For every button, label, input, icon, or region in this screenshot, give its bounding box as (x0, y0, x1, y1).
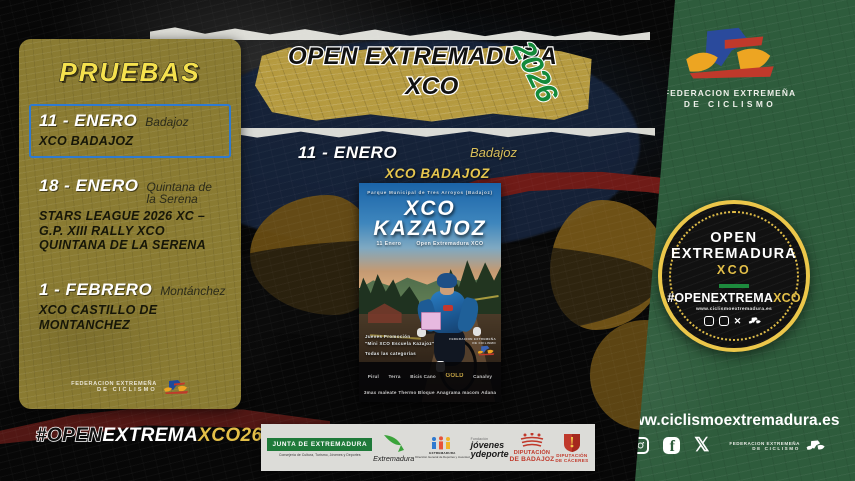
facebook-icon[interactable] (719, 316, 729, 326)
event-date: 1 - FEBRERO (39, 280, 152, 300)
instagram-icon[interactable] (704, 316, 714, 326)
caceres-shield-icon (562, 433, 582, 453)
federation-small-line-1: FEDERACION EXTREMEÑA (729, 441, 800, 446)
flyer-title-2: KAZAJOZ (359, 219, 501, 239)
badge-line-3: XCO (717, 263, 751, 277)
featured-event-name: XCO BADAJOZ (385, 166, 490, 181)
badajoz-crown-icon (517, 433, 547, 450)
facebook-icon[interactable]: f (663, 437, 680, 454)
campaign-hashtag: #OPENEXTREMAXCO26 (36, 425, 262, 447)
sponsor-label-2: DE CÁCERES (555, 458, 588, 463)
sponsor-label: JUNTA DE EXTREMADURA (267, 438, 372, 451)
event-name: STARS LEAGUE 2026 XC – G.P. XIII RALLY X… (39, 209, 223, 253)
flyer-sponsor: Pirul (368, 374, 379, 379)
federation-cyclist-icon (163, 379, 189, 395)
featured-event-date: 11 - ENERO (298, 143, 397, 163)
sponsor-extremadura[interactable]: Extremadura (373, 433, 414, 463)
list-item[interactable]: 1 - FEBRERO Montánchez XCO CASTILLO DE M… (29, 273, 231, 342)
federation-cyclist-icon (677, 26, 783, 82)
flyer-series: Open Extremadura XCO (416, 241, 483, 247)
badge-hashtag: #OPENEXTREMAXCO (667, 291, 801, 305)
flyer-note-3: Todas las categorías (365, 351, 434, 358)
flyer-sponsor: Thermo Bloque (398, 390, 434, 395)
flyer-sponsor: GOLD (445, 373, 463, 379)
panel-federation-footer: FEDERACION EXTREMEÑA DE CICLISMO (19, 379, 241, 395)
event-date: 18 - ENERO (39, 176, 138, 196)
flyer-header: Parque Municipal de Tres Arroyos (Badajo… (359, 190, 501, 247)
federation-line-1: FEDERACION EXTREMEÑA (664, 88, 796, 98)
event-head: 18 - ENERO Quintana de la Serena (39, 176, 223, 206)
badge-social-row: ✕ (704, 316, 765, 327)
list-item[interactable]: 18 - ENERO Quintana de la Serena STARS L… (29, 169, 231, 262)
flyer-sponsor: maleate (378, 390, 397, 395)
flyer-sponsor: Canalvy (473, 374, 492, 379)
federation-logo-icon (746, 317, 764, 325)
federation-line-2: DE CICLISMO (71, 387, 157, 393)
badge-line-2: EXTREMADURA (671, 246, 797, 262)
people-icon (429, 436, 455, 451)
event-place: Badajoz (145, 116, 188, 129)
panel-title: PRUEBAS (19, 57, 241, 88)
badge-line-1: OPEN (710, 230, 758, 246)
event-head: 11 - ENERO Badajoz (39, 111, 223, 131)
cyclist-glove-right (473, 327, 481, 336)
sponsor-junta-de-extremadura[interactable]: JUNTA DE EXTREMADURA Consejería de Cultu… (267, 438, 372, 457)
events-list: 11 - ENERO Badajoz XCO BADAJOZ 18 - ENER… (29, 104, 231, 342)
sponsor-diputacion-de-badajoz[interactable]: DIPUTACIÓN DE BADAJOZ (510, 433, 555, 463)
flyer-subline: 11 Enero Open Extremadura XCO (359, 241, 501, 247)
website-url[interactable]: www.ciclismoextremadura.es (605, 412, 855, 430)
social-links: f 𝕏 FEDERACION EXTREMEÑA DE CICLISMO (605, 436, 855, 455)
badge-url[interactable]: www.ciclismoextremadura.es (696, 307, 772, 312)
x-icon[interactable]: ✕ (734, 316, 742, 327)
sponsor-jovenes-y-deporte[interactable]: Fundación jóvenes ydeporte (471, 437, 509, 458)
flyer-note-2: "Mini XCO Escuela Kazajoz" (365, 341, 434, 348)
flyer-sponsor: Anagrama (436, 390, 460, 395)
sponsor-label-2: DE BADAJOZ (510, 456, 555, 463)
extremadura-leaf-icon (380, 433, 408, 453)
hashtag-open: #OPEN (36, 425, 102, 446)
flyer-sponsor: Bicis Cano (410, 374, 436, 379)
badge-hashtag-extrema: EXTREMA (711, 291, 774, 305)
sponsor-label-2: ydeporte (471, 450, 509, 458)
x-icon[interactable]: 𝕏 (694, 436, 709, 455)
hashtag-extrema: EXTREMA (102, 425, 198, 446)
federation-line-2: DE CICLISMO (684, 99, 776, 109)
flyer-sponsor: Adana (481, 390, 496, 395)
sponsor-sublabel: Dirección General de Deportes y Juventud (415, 456, 469, 460)
sponsor-bar: JUNTA DE EXTREMADURA Consejería de Cultu… (261, 424, 595, 471)
flyer-sponsor: Terra (389, 374, 401, 379)
sponsor-sublabel: Consejería de Cultura, Turismo, Jóvenes … (279, 453, 361, 457)
cyclist-jersey-badge (443, 305, 452, 311)
flyer-note-1: Jueves Promoción (365, 334, 434, 341)
federation-cyclist-icon (804, 440, 828, 452)
hashtag-xco26: XCO26 (198, 425, 262, 446)
federation-wordmark: FEDERACION EXTREMEÑA DE CICLISMO (71, 381, 157, 394)
event-date: 11 - ENERO (39, 111, 137, 131)
badge-divider (719, 284, 749, 288)
featured-event-place: Badajoz (470, 145, 517, 160)
event-head: 1 - FEBRERO Montánchez (39, 280, 223, 300)
event-name: XCO BADAJOZ (39, 134, 223, 149)
event-place: Quintana de la Serena (146, 181, 223, 206)
flyer-sponsor-row-2: 3max maleate Thermo Bloque Anagrama maco… (363, 385, 497, 399)
events-panel: PRUEBAS 11 - ENERO Badajoz XCO BADAJOZ 1… (19, 39, 241, 409)
federation-logo-small: FEDERACION EXTREMEÑA DE CICLISMO (729, 440, 828, 452)
flyer-federation-logo: FEDERACION EXTREMEÑA DE CICLISMO (449, 337, 496, 356)
flyer-notes: Jueves Promoción "Mini XCO Escuela Kazaj… (365, 334, 434, 358)
flyer-venue: Parque Municipal de Tres Arroyos (Badajo… (359, 190, 501, 195)
flyer-cyclist-icon (476, 345, 496, 356)
flyer-title-1: XCO (359, 199, 501, 219)
sponsor-diputacion-de-caceres[interactable]: DIPUTACIÓN DE CÁCERES (555, 433, 588, 463)
flyer-sponsor-row-1: Pirul Terra Bicis Cano GOLD Canalvy (363, 367, 497, 385)
list-item[interactable]: 11 - ENERO Badajoz XCO BADAJOZ (29, 104, 231, 158)
flyer-sponsor: 3max (364, 390, 377, 395)
event-place: Montánchez (160, 285, 225, 298)
flyer-number-plate (421, 312, 441, 330)
federation-small-line-2: DE CICLISMO (729, 446, 800, 451)
open-extremadura-badge[interactable]: OPEN EXTREMADURA XCO #OPENEXTREMAXCO www… (658, 200, 810, 352)
event-name: XCO CASTILLO DE MONTANCHEZ (39, 303, 223, 333)
badge-hashtag-xco: XCO (773, 291, 801, 305)
sponsor-ministerio-extremadura[interactable]: EXTREMADURA Dirección General de Deporte… (415, 436, 469, 460)
badge-hashtag-open: #OPEN (667, 291, 710, 305)
event-flyer-image[interactable]: Parque Municipal de Tres Arroyos (Badajo… (359, 183, 501, 402)
poster-canvas: PRUEBAS 11 - ENERO Badajoz XCO BADAJOZ 1… (0, 0, 855, 481)
flyer-sponsor: macom (462, 390, 479, 395)
cyclist-helmet (437, 273, 457, 288)
flyer-sponsor-strip: Pirul Terra Bicis Cano GOLD Canalvy 3max… (359, 362, 501, 402)
sponsor-label: Extremadura (373, 454, 414, 463)
flyer-date: 11 Enero (377, 241, 402, 247)
